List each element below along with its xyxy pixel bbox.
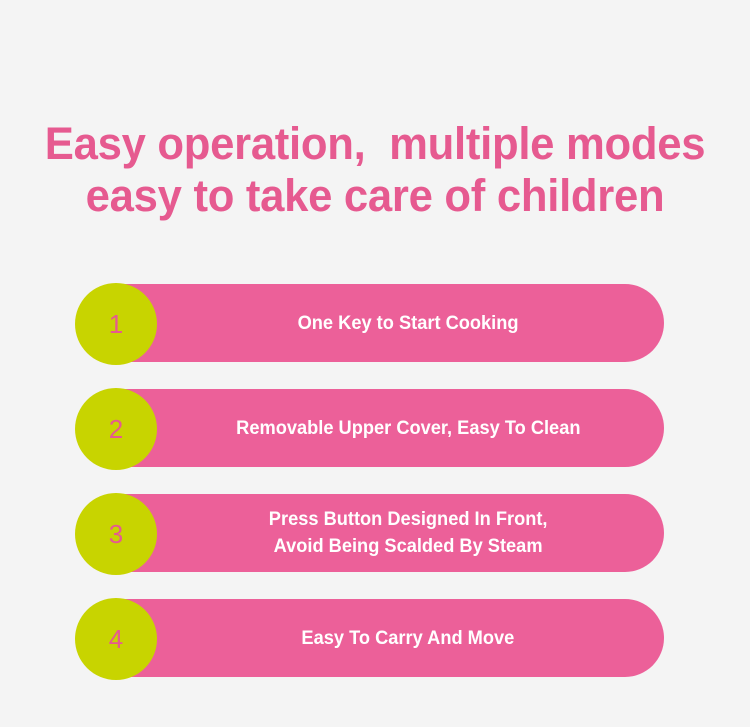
feature-number-badge: 2 — [75, 388, 157, 470]
feature-number-badge: 3 — [75, 493, 157, 575]
list-item: Removable Upper Cover, Easy To Clean 2 — [86, 389, 664, 467]
list-item: Press Button Designed In Front, Avoid Be… — [86, 494, 664, 572]
feature-text: Press Button Designed In Front, Avoid Be… — [182, 494, 634, 572]
page-title-line-2: easy to take care of children — [11, 170, 739, 222]
feature-number: 4 — [109, 626, 123, 652]
feature-number: 3 — [109, 521, 123, 547]
feature-text-line: Press Button Designed In Front, — [269, 506, 548, 533]
feature-number-badge: 4 — [75, 598, 157, 680]
feature-list: One Key to Start Cooking 1 Removable Upp… — [0, 284, 750, 677]
feature-text-line: One Key to Start Cooking — [298, 310, 519, 337]
feature-text: One Key to Start Cooking — [182, 284, 634, 362]
feature-text: Removable Upper Cover, Easy To Clean — [182, 389, 634, 467]
feature-text-line: Avoid Being Scalded By Steam — [274, 533, 543, 560]
feature-number: 2 — [109, 416, 123, 442]
feature-number: 1 — [109, 311, 123, 337]
page-title-line-1: Easy operation, multiple modes — [11, 118, 739, 170]
feature-text-line: Easy To Carry And Move — [302, 625, 515, 652]
feature-text: Easy To Carry And Move — [182, 599, 634, 677]
list-item: Easy To Carry And Move 4 — [86, 599, 664, 677]
list-item: One Key to Start Cooking 1 — [86, 284, 664, 362]
feature-text-line: Removable Upper Cover, Easy To Clean — [236, 415, 580, 442]
feature-highlight-page: Easy operation, multiple modes easy to t… — [0, 0, 750, 727]
feature-number-badge: 1 — [75, 283, 157, 365]
page-title: Easy operation, multiple modes easy to t… — [0, 118, 750, 222]
